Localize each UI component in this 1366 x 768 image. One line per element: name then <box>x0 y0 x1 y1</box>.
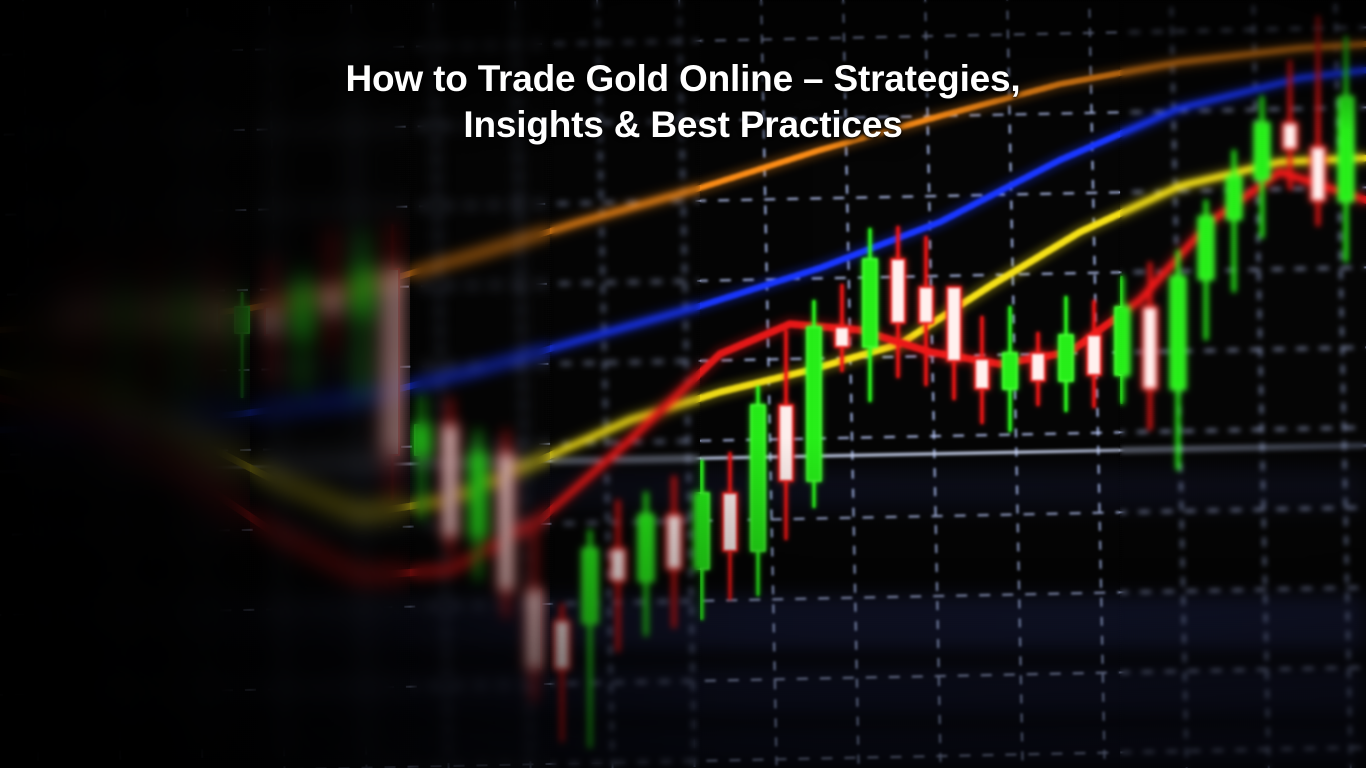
page-title: How to Trade Gold Online – Strategies, I… <box>0 56 1366 148</box>
page-title-line-1: How to Trade Gold Online – Strategies, <box>250 56 1116 102</box>
trading-chart-hero-image: How to Trade Gold Online – Strategies, I… <box>0 0 1366 768</box>
page-title-line-2: Insights & Best Practices <box>250 102 1116 148</box>
